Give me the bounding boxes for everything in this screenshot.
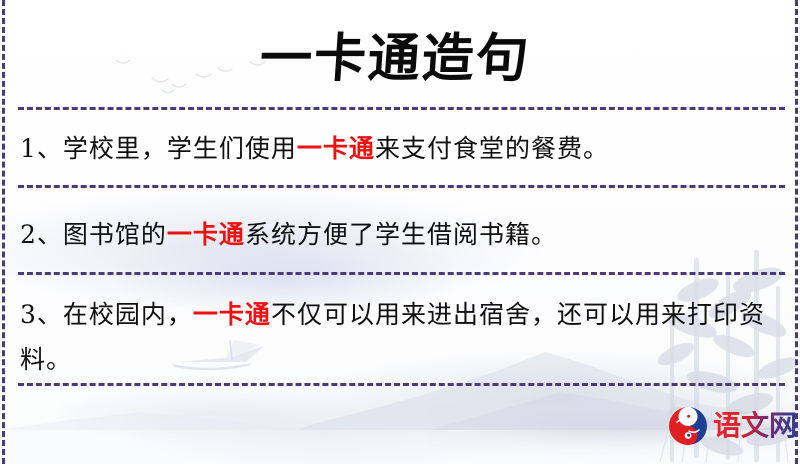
site-logo[interactable]: 语文网 — [668, 404, 797, 448]
sentence-item-1: 1、学校里，学生们使用一卡通来支付食堂的餐费。 — [20, 126, 765, 171]
keyword-highlight-3: 一卡通 — [193, 300, 271, 329]
divider-after-sentence-2 — [18, 272, 785, 275]
site-logo-text: 语文网 — [713, 409, 797, 443]
divider-after-sentence-3 — [18, 383, 785, 386]
sentence-text-before-2: 图书馆的 — [63, 220, 167, 249]
divider-below-title — [18, 107, 785, 110]
sentence-item-3: 3、在校园内，一卡通不仅可以用来进出宿舍，还可以用来打印资料。 — [20, 292, 765, 382]
sentence-text-before-1: 学校里，学生们使用 — [63, 134, 297, 163]
keyword-highlight-2: 一卡通 — [167, 220, 245, 249]
sentence-item-2: 2、图书馆的一卡通系统方便了学生借阅书籍。 — [20, 212, 765, 257]
sentence-text-before-3: 在校园内， — [63, 300, 193, 329]
yin-yang-fish-logo-icon — [668, 406, 708, 446]
frame-border-right — [795, 0, 798, 464]
sentence-number-2: 2、 — [20, 220, 63, 249]
worksheet-page: 一卡通造句 1、学校里，学生们使用一卡通来支付食堂的餐费。 2、图书馆的一卡通系… — [0, 0, 800, 464]
divider-after-sentence-1 — [18, 185, 785, 188]
sentence-text-after-1: 来支付食堂的餐费。 — [375, 134, 609, 163]
page-title: 一卡通造句 — [0, 24, 792, 94]
sentence-number-3: 3、 — [20, 300, 63, 329]
sentence-text-after-2: 系统方便了学生借阅书籍。 — [245, 220, 557, 249]
mist-wash-bottom — [60, 390, 360, 440]
sentence-number-1: 1、 — [20, 134, 63, 163]
keyword-highlight-1: 一卡通 — [297, 134, 375, 163]
